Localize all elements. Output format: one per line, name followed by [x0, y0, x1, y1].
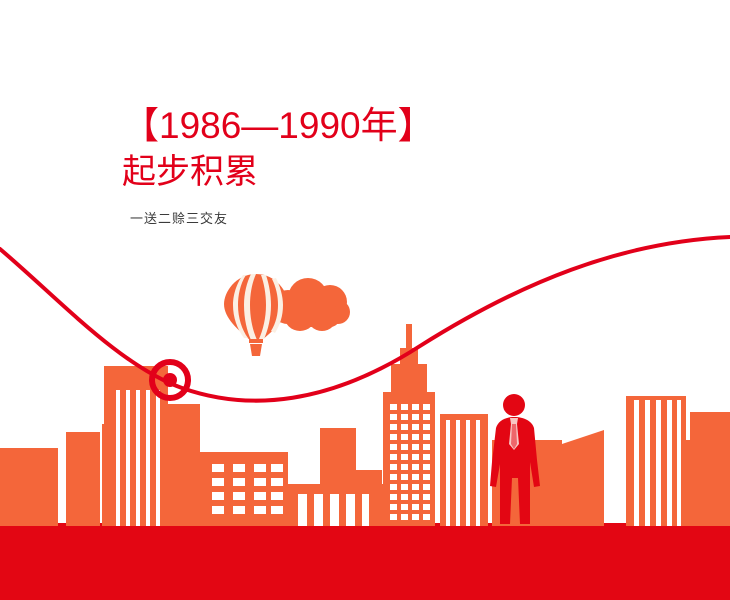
- building-right-step-upper: [690, 412, 730, 526]
- building-empire-spire: [406, 324, 412, 350]
- businessman-tie: [511, 424, 517, 449]
- balloon-basket-ropes: [249, 339, 263, 343]
- building-slanted: [562, 430, 604, 526]
- heading-block: 【1986—1990年】 起步积累 一送二赊三交友: [122, 104, 642, 228]
- building-slanted-foot: [544, 500, 566, 526]
- illustration-scene: [0, 0, 730, 600]
- building-windowed-midrise: [200, 452, 288, 526]
- hot-air-balloon: [224, 274, 288, 356]
- building-left-1: [0, 448, 58, 526]
- balloon-basket: [250, 344, 262, 356]
- building-empire-upper: [391, 364, 427, 392]
- building-slot-tower: [320, 428, 356, 488]
- ground-band: [0, 523, 730, 600]
- page-title-phase: 起步积累: [122, 150, 642, 194]
- slide-canvas: 【1986—1990年】 起步积累 一送二赊三交友: [0, 0, 730, 600]
- businessman-head: [503, 394, 525, 416]
- page-title-year-range: 【1986—1990年】: [122, 104, 642, 148]
- page-subtitle: 一送二赊三交友: [130, 210, 642, 228]
- building-left-2: [66, 432, 100, 526]
